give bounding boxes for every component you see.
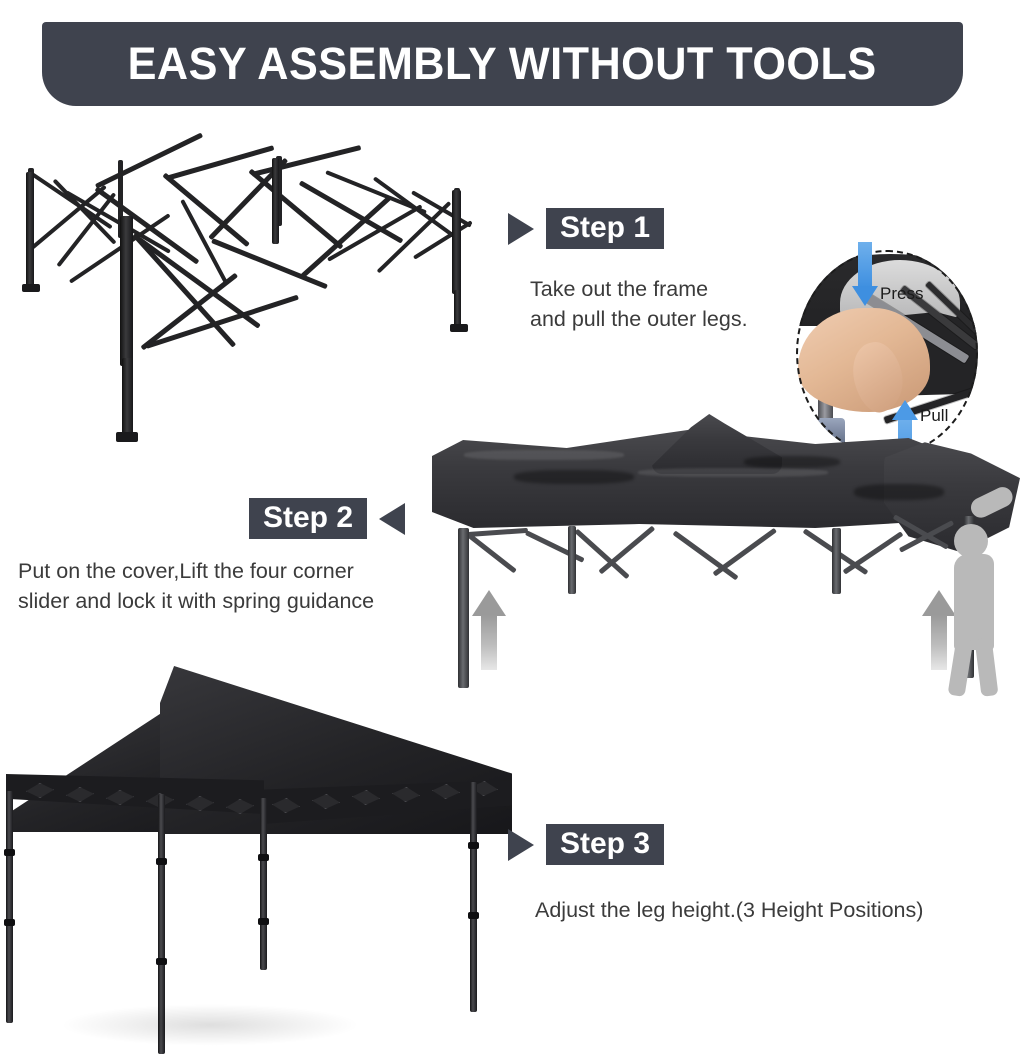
canopy-leg (260, 798, 267, 970)
assembled-canopy-image (0, 648, 520, 1048)
press-label: Press (880, 284, 923, 304)
step-1-label: Step 1 (546, 208, 664, 249)
step-3-badge: Step 3 (508, 824, 664, 865)
press-arrow-icon (852, 242, 878, 306)
infographic-page: EASY ASSEMBLY WITHOUT TOOLS (0, 0, 1024, 1056)
person-silhouette (944, 498, 1022, 664)
page-title: EASY ASSEMBLY WITHOUT TOOLS (128, 38, 877, 90)
triangle-right-icon (508, 829, 534, 861)
folded-frame-image (14, 146, 494, 456)
step-3-description: Adjust the leg height.(3 Height Position… (535, 895, 1005, 925)
header-banner: EASY ASSEMBLY WITHOUT TOOLS (42, 22, 963, 106)
half-raised-canopy-image (424, 424, 1024, 664)
step-2-badge: Step 2 (249, 498, 405, 539)
step-3-label: Step 3 (546, 824, 664, 865)
step-1-description: Take out the frame and pull the outer le… (530, 274, 830, 334)
step-1-badge: Step 1 (508, 208, 664, 249)
step-2-description: Put on the cover,Lift the four corner sl… (18, 556, 448, 616)
step-2-label: Step 2 (249, 498, 367, 539)
canopy-leg (470, 782, 477, 1012)
pull-label: Pull (920, 406, 948, 426)
triangle-right-icon (508, 213, 534, 245)
canopy-leg (6, 791, 13, 1023)
triangle-left-icon (379, 503, 405, 535)
